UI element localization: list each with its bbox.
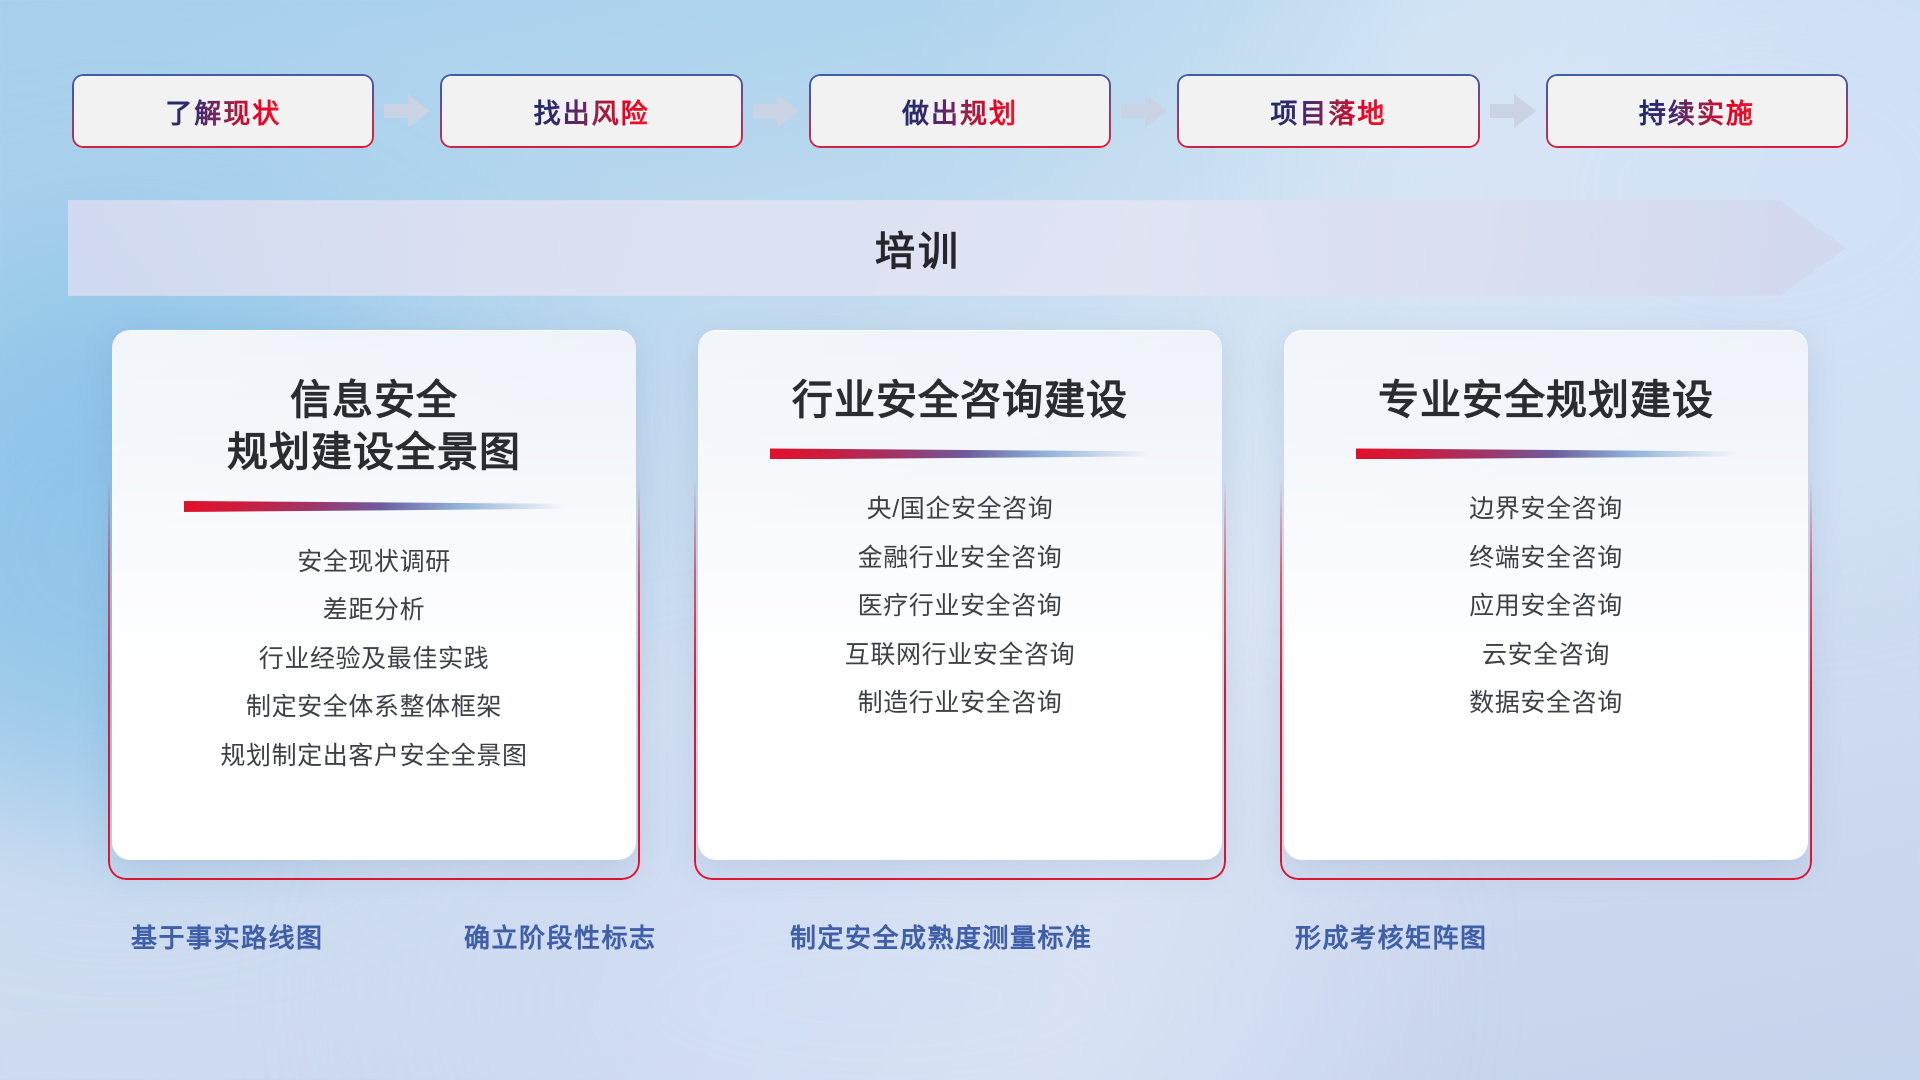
arrow-right-icon (374, 88, 440, 134)
feature-card-2[interactable]: 专业安全规划建设 边界安全咨询 终端安全咨询 应用安全咨询 云安全咨询 数据安全… (1284, 330, 1808, 860)
process-step-0[interactable]: 了解现状 (72, 74, 374, 148)
list-item: 云安全咨询 (1482, 635, 1610, 676)
card-title-line: 信息安全 (227, 374, 521, 426)
list-item: 金融行业安全咨询 (858, 538, 1063, 579)
card-title-line: 行业安全咨询建设 (792, 374, 1128, 426)
list-item: 差距分析 (323, 590, 425, 631)
feature-card-wrap-1: 行业安全咨询建设 央/国企安全咨询 金融行业安全咨询 医疗行业安全咨询 互联网行… (698, 330, 1222, 875)
caption-row: 基于事实路线图 确立阶段性标志 制定安全成熟度测量标准 形成考核矩阵图 (0, 918, 1920, 962)
feature-card-0[interactable]: 信息安全 规划建设全景图 安全现状调研 差距分析 行业经验及最佳实践 制定安全体… (112, 330, 636, 860)
list-item: 应用安全咨询 (1469, 586, 1623, 627)
caption-3: 形成考核矩阵图 (1295, 918, 1488, 955)
process-step-label: 找出风险 (534, 92, 650, 131)
card-title-line: 规划建设全景图 (227, 426, 521, 478)
list-item: 互联网行业安全咨询 (845, 635, 1075, 676)
list-item: 终端安全咨询 (1469, 538, 1623, 579)
process-step-label: 做出规划 (902, 92, 1018, 131)
process-step-label: 项目落地 (1270, 92, 1386, 131)
list-item: 安全现状调研 (297, 542, 451, 583)
arrow-right-icon (743, 88, 809, 134)
feature-card-1[interactable]: 行业安全咨询建设 央/国企安全咨询 金融行业安全咨询 医疗行业安全咨询 互联网行… (698, 330, 1222, 860)
card-item-list: 边界安全咨询 终端安全咨询 应用安全咨询 云安全咨询 数据安全咨询 (1469, 489, 1623, 724)
feature-card-row: 信息安全 规划建设全景图 安全现状调研 差距分析 行业经验及最佳实践 制定安全体… (0, 330, 1920, 890)
process-step-row: 了解现状 找出风险 做出规划 项目落地 持续实施 (0, 72, 1920, 150)
banner-title: 培训 (68, 196, 1768, 300)
card-title: 专业安全规划建设 (1352, 374, 1740, 426)
card-divider (1356, 448, 1736, 459)
card-item-list: 安全现状调研 差距分析 行业经验及最佳实践 制定安全体系整体框架 规划制定出客户… (220, 542, 527, 777)
process-step-label: 持续实施 (1639, 92, 1755, 131)
list-item: 行业经验及最佳实践 (259, 639, 489, 680)
list-item: 数据安全咨询 (1469, 683, 1623, 724)
process-step-2[interactable]: 做出规划 (809, 74, 1111, 148)
card-title: 行业安全咨询建设 (766, 374, 1154, 426)
training-banner: 培训 (68, 196, 1846, 300)
list-item: 制造行业安全咨询 (858, 683, 1063, 724)
list-item: 央/国企安全咨询 (867, 489, 1054, 530)
caption-0: 基于事实路线图 (131, 918, 324, 955)
feature-card-wrap-2: 专业安全规划建设 边界安全咨询 终端安全咨询 应用安全咨询 云安全咨询 数据安全… (1284, 330, 1808, 875)
arrow-right-icon (1480, 88, 1546, 134)
feature-card-wrap-0: 信息安全 规划建设全景图 安全现状调研 差距分析 行业经验及最佳实践 制定安全体… (112, 330, 636, 875)
card-title: 信息安全 规划建设全景图 (201, 374, 547, 479)
list-item: 边界安全咨询 (1469, 489, 1623, 530)
process-step-1[interactable]: 找出风险 (440, 74, 742, 148)
caption-1: 确立阶段性标志 (464, 918, 657, 955)
card-divider (184, 501, 564, 512)
list-item: 医疗行业安全咨询 (858, 586, 1063, 627)
card-divider (770, 448, 1150, 459)
process-step-label: 了解现状 (165, 92, 281, 131)
process-step-4[interactable]: 持续实施 (1546, 74, 1848, 148)
arrow-right-icon (1111, 88, 1177, 134)
list-item: 制定安全体系整体框架 (246, 687, 502, 728)
card-item-list: 央/国企安全咨询 金融行业安全咨询 医疗行业安全咨询 互联网行业安全咨询 制造行… (845, 489, 1075, 724)
caption-2: 制定安全成熟度测量标准 (790, 918, 1093, 955)
card-title-line: 专业安全规划建设 (1378, 374, 1714, 426)
process-step-3[interactable]: 项目落地 (1177, 74, 1479, 148)
list-item: 规划制定出客户安全全景图 (220, 736, 527, 777)
